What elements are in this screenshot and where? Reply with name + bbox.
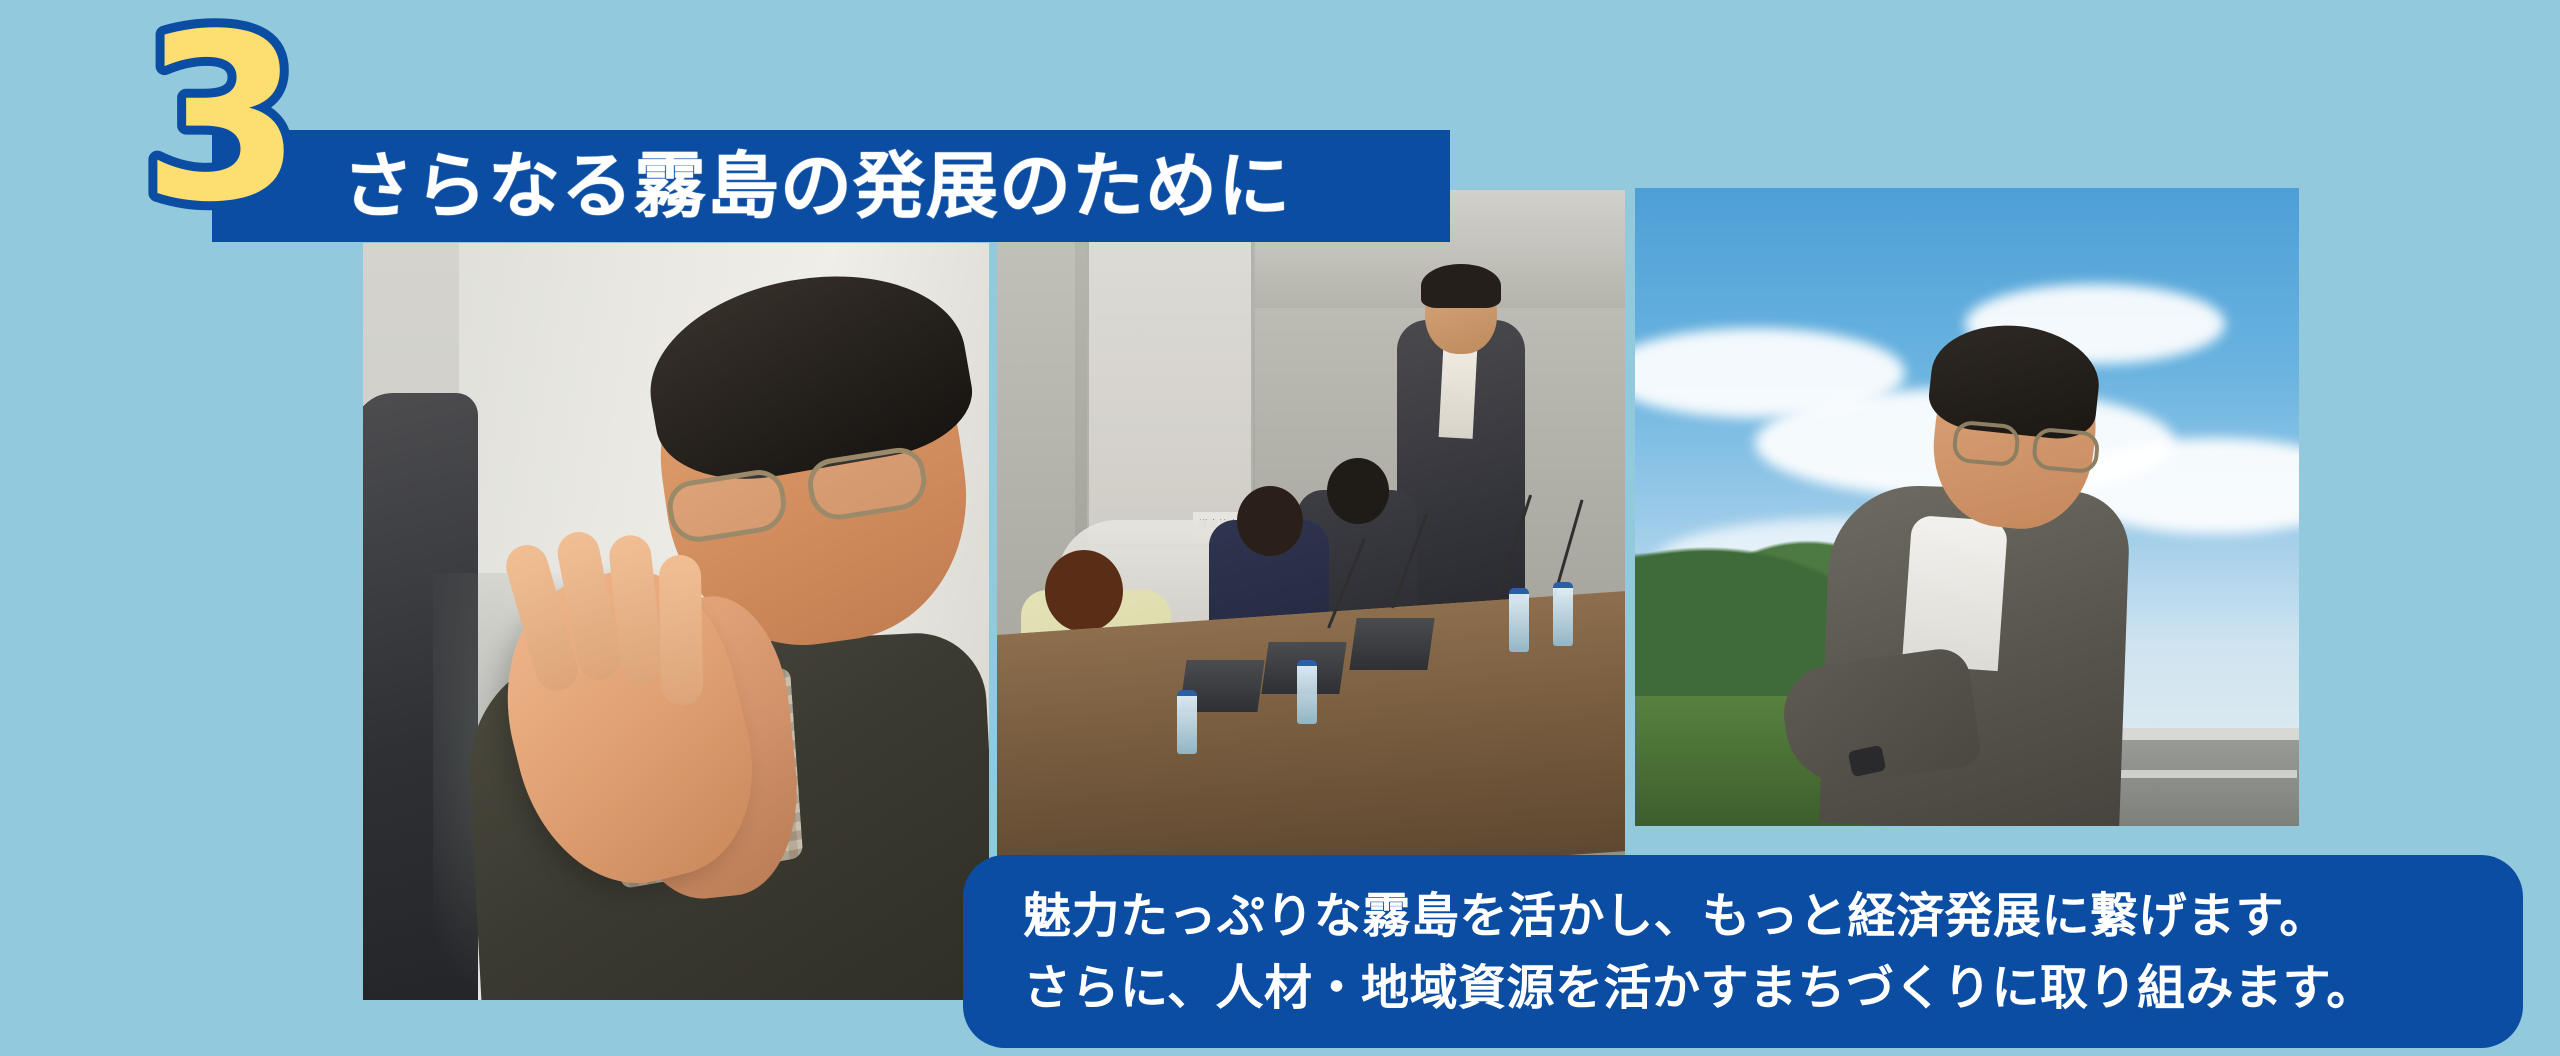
photo2-water-bottle (1177, 690, 1197, 754)
poster-canvas: 3 さらなる霧島の発展のために 議会控室 (0, 0, 2560, 1056)
photo-man-clapping (363, 243, 989, 1000)
photo2-speaker-hair (1421, 264, 1501, 308)
photo2-water-bottle (1297, 660, 1317, 724)
photo2-attendee-head (1237, 486, 1303, 556)
photo2-speaker-shirt (1439, 345, 1478, 439)
photo2-desk (997, 591, 1625, 895)
section-title: さらなる霧島の発展のために (342, 150, 1291, 222)
photo2-attendee-head (1327, 458, 1389, 524)
photo2-door-upper (1087, 212, 1253, 546)
caption-line-2: さらに、人材・地域資源を活かすまちづくりに取り組みます。 (1023, 952, 2375, 1024)
photo3-subject-shirt (1902, 515, 2008, 671)
caption-box: 魅力たっぷりな霧島を活かし、もっと経済発展に繋げます。 さらに、人材・地域資源を… (963, 855, 2523, 1048)
photo-council-meeting: 議会控室 (997, 190, 1625, 895)
photo2-water-bottle (1553, 582, 1573, 646)
photo-man-outdoors (1635, 188, 2299, 826)
caption-line-1: 魅力たっぷりな霧島を活かし、もっと経済発展に繋げます。 (1023, 880, 2328, 952)
photo2-laptop (1349, 618, 1434, 670)
photo2-attendee-head (1045, 550, 1123, 632)
photo2-water-bottle (1509, 588, 1529, 652)
photo1-finger (659, 555, 704, 706)
section-title-band: さらなる霧島の発展のために (212, 130, 1450, 242)
